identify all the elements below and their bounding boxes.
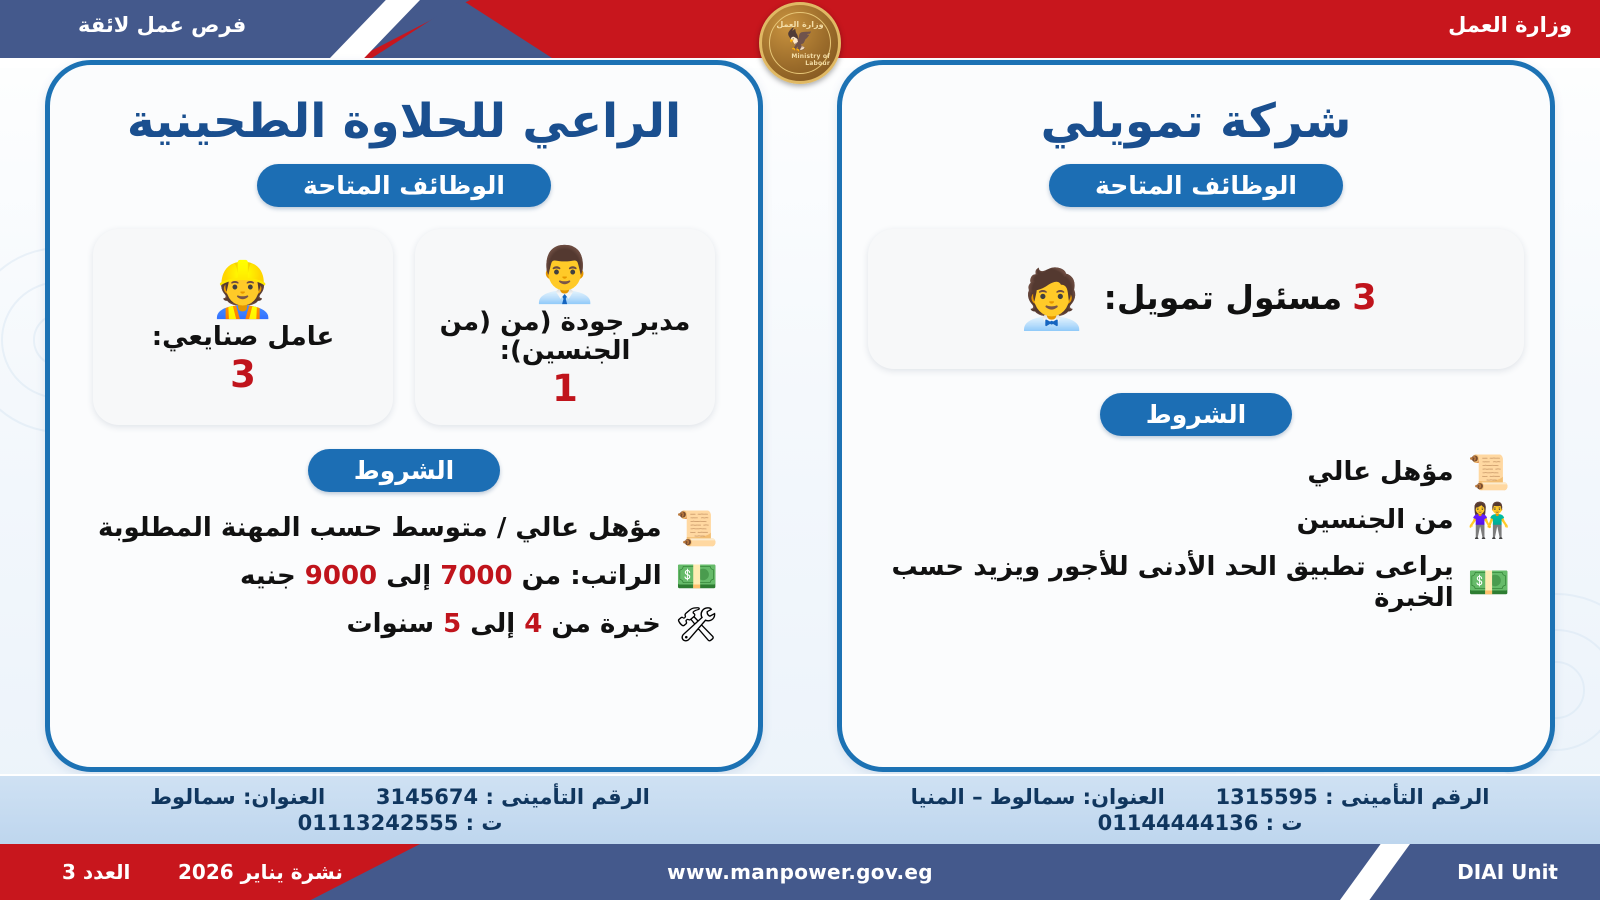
company-card-left: شركة تمويلي الوظائف المتاحة 🧑‍💼 مسئول تم… (837, 60, 1555, 772)
job-count: 1 (552, 370, 578, 409)
phone-value: 01144444136 (1098, 811, 1259, 835)
job-count: 3 (230, 356, 256, 395)
infographic-page: فرص عمل لائقة وزارة العمل وزارة العمل 🦅 … (0, 0, 1600, 900)
company-card-right: الراعي للحلاوة الطحينية الوظائف المتاحة … (45, 60, 763, 772)
insurance-label: الرقم التأمينى : (485, 785, 649, 809)
header-right-label: وزارة العمل (1448, 13, 1572, 37)
job-tile[interactable]: 👨‍💼 مدير جودة (من (من الجنسين): 1 (415, 229, 715, 425)
contact-strip-left: الرقم التأمينى : 3145674 العنوان: سمالوط… (0, 774, 800, 844)
condition-text: مؤهل عالي (1307, 457, 1453, 489)
website-link[interactable]: www.manpower.gov.eg (667, 860, 933, 884)
phone-label: ت : (1266, 811, 1303, 835)
finance-officer-icon: 🧑‍💼 (1015, 270, 1087, 328)
job-tile[interactable]: 👷 عامل صنايعي: 3 (93, 229, 393, 425)
condition-row: 💵 الراتب: من 7000 إلى 9000 جنيه (90, 560, 718, 594)
cards-container: الراعي للحلاوة الطحينية الوظائف المتاحة … (0, 60, 1600, 772)
condition-row: 💵 يراعى تطبيق الحد الأدنى للأجور ويزيد ح… (882, 552, 1510, 615)
seal-english-text: Ministry of Labour (770, 53, 830, 67)
ministry-seal-icon: وزارة العمل 🦅 Ministry of Labour (759, 2, 841, 84)
certificate-icon: 📜 (676, 512, 718, 546)
condition-text: خبرة من 4 إلى 5 سنوات (346, 609, 660, 641)
address-value: سمالوط – المنيا (911, 785, 1076, 809)
tools-icon: 🛠 (675, 608, 718, 642)
condition-text: يراعى تطبيق الحد الأدنى للأجور ويزيد حسب… (882, 552, 1454, 615)
condition-text: مؤهل عالي / متوسط حسب المهنة المطلوبة (98, 513, 662, 545)
job-title: عامل صنايعي: (152, 323, 335, 352)
header-left-label: فرص عمل لائقة (78, 13, 246, 37)
contact-line-primary: الرقم التأمينى : 3145674 العنوان: سمالوط (150, 785, 650, 809)
unit-label: DIAI Unit (1457, 860, 1558, 884)
seal-inner: وزارة العمل 🦅 Ministry of Labour (769, 12, 831, 74)
job-tile[interactable]: 🧑‍💼 مسئول تمويل: 3 (868, 229, 1524, 369)
conditions-pill: الشروط (1100, 393, 1292, 436)
jobs-list: 🧑‍💼 مسئول تمويل: 3 (868, 229, 1524, 369)
condition-row: 📜 مؤهل عالي / متوسط حسب المهنة المطلوبة (90, 512, 718, 546)
address-value: سمالوط (150, 785, 235, 809)
conditions-pill: الشروط (308, 449, 500, 492)
issue-number: العدد 3 (62, 860, 130, 884)
money-icon: 💵 (676, 560, 718, 594)
jobs-list: 👷 عامل صنايعي: 3 👨‍💼 مدير جودة (من (من ا… (76, 229, 732, 425)
job-count: 3 (1352, 280, 1376, 317)
job-line: مسئول تمويل: 3 (1104, 280, 1377, 317)
phone-value: 01113242555 (298, 811, 459, 835)
condition-text: الراتب: من 7000 إلى 9000 جنيه (240, 561, 662, 593)
available-jobs-pill: الوظائف المتاحة (1049, 164, 1343, 207)
conditions-list: 📜 مؤهل عالي / متوسط حسب المهنة المطلوبة … (76, 512, 732, 650)
contact-line-primary: الرقم التأمينى : 1315595 العنوان: سمالوط… (911, 785, 1490, 809)
bottom-bar: العدد 3 نشرة يناير 2026 www.manpower.gov… (0, 844, 1600, 900)
insurance-number: 3145674 (376, 785, 478, 809)
money-icon: 💵 (1468, 566, 1510, 600)
address-label: العنوان: (1083, 785, 1165, 809)
eagle-icon: 🦅 (786, 30, 813, 52)
condition-row: 👫 من الجنسين (882, 504, 1510, 538)
conditions-list: 📜 مؤهل عالي 👫 من الجنسين 💵 يراعى تطبيق ا… (868, 456, 1524, 623)
certificate-icon: 📜 (1468, 456, 1510, 490)
contact-line-phone: ت : 01144444136 (1098, 811, 1303, 835)
job-title: مسئول تمويل: (1104, 280, 1343, 317)
worker-icon: 👷 (209, 263, 276, 317)
condition-text: من الجنسين (1297, 505, 1454, 537)
condition-row: 🛠 خبرة من 4 إلى 5 سنوات (90, 608, 718, 642)
contact-line-phone: ت : 01113242555 (298, 811, 503, 835)
available-jobs-pill: الوظائف المتاحة (257, 164, 551, 207)
bottom-white-slash (1340, 844, 1410, 900)
phone-label: ت : (466, 811, 503, 835)
quality-manager-icon: 👨‍💼 (531, 248, 598, 302)
condition-row: 📜 مؤهل عالي (882, 456, 1510, 490)
company-title: شركة تمويلي (1041, 97, 1352, 148)
contact-strip-right: الرقم التأمينى : 1315595 العنوان: سمالوط… (800, 774, 1600, 844)
address-label: العنوان: (243, 785, 325, 809)
both-genders-icon: 👫 (1468, 504, 1510, 538)
company-title: الراعي للحلاوة الطحينية (127, 97, 681, 148)
bulletin-date: نشرة يناير 2026 (178, 860, 343, 884)
insurance-number: 1315595 (1216, 785, 1318, 809)
insurance-label: الرقم التأمينى : (1325, 785, 1489, 809)
job-title: مدير جودة (من (من الجنسين): (427, 308, 703, 366)
